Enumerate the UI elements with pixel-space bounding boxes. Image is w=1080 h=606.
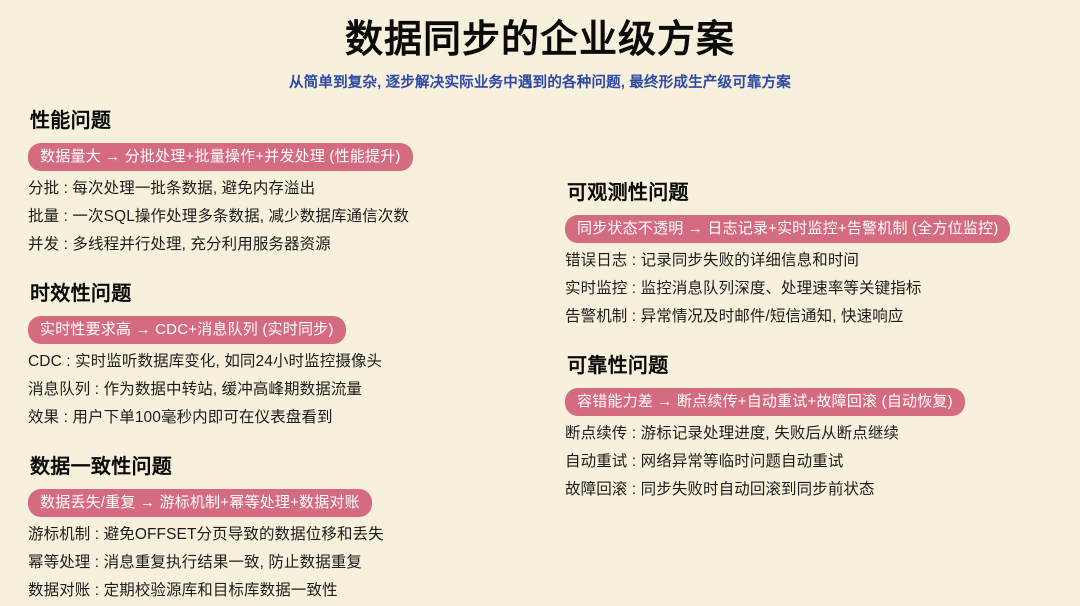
- section-observability: 可观测性问题 同步状态不透明 → 日志记录+实时监控+告警机制 (全方位监控) …: [565, 180, 1065, 331]
- section-reliability: 可靠性问题 容错能力差 → 断点续传+自动重试+故障回滚 (自动恢复) 断点续传…: [565, 353, 1065, 504]
- list-item: 自动重试 : 网络异常等临时问题自动重试: [565, 448, 1065, 476]
- list-item: 游标机制 : 避免OFFSET分页导致的数据位移和丢失: [28, 521, 528, 549]
- section-consistency: 数据一致性问题 数据丢失/重复 → 游标机制+幂等处理+数据对账 游标机制 : …: [28, 454, 528, 605]
- list-item: 并发 : 多线程并行处理, 充分利用服务器资源: [28, 231, 528, 259]
- section-timeliness: 时效性问题 实时性要求高 → CDC+消息队列 (实时同步) CDC : 实时监…: [28, 281, 528, 432]
- bullet-list-consistency: 游标机制 : 避免OFFSET分页导致的数据位移和丢失 幂等处理 : 消息重复执…: [28, 521, 528, 605]
- section-title-consistency: 数据一致性问题: [30, 454, 528, 480]
- list-item: 效果 : 用户下单100毫秒内即可在仪表盘看到: [28, 404, 528, 432]
- list-item: 数据对账 : 定期校验源库和目标库数据一致性: [28, 577, 528, 605]
- section-title-performance: 性能问题: [30, 108, 528, 134]
- list-item: 断点续传 : 游标记录处理进度, 失败后从断点继续: [565, 420, 1065, 448]
- solution-pill-consistency: 数据丢失/重复 → 游标机制+幂等处理+数据对账: [28, 489, 372, 517]
- right-column: 可观测性问题 同步状态不透明 → 日志记录+实时监控+告警机制 (全方位监控) …: [565, 180, 1065, 504]
- list-item: 实时监控 : 监控消息队列深度、处理速率等关键指标: [565, 275, 1065, 303]
- section-title-observability: 可观测性问题: [567, 180, 1065, 206]
- slide-header: 数据同步的企业级方案 从简单到复杂, 逐步解决实际业务中遇到的各种问题, 最终形…: [0, 0, 1080, 93]
- section-title-reliability: 可靠性问题: [567, 353, 1065, 379]
- bullet-list-performance: 分批 : 每次处理一批条数据, 避免内存溢出 批量 : 一次SQL操作处理多条数…: [28, 175, 528, 259]
- section-performance: 性能问题 数据量大 → 分批处理+批量操作+并发处理 (性能提升) 分批 : 每…: [28, 108, 528, 259]
- list-item: CDC : 实时监听数据库变化, 如同24小时监控摄像头: [28, 348, 528, 376]
- list-item: 告警机制 : 异常情况及时邮件/短信通知, 快速响应: [565, 303, 1065, 331]
- list-item: 幂等处理 : 消息重复执行结果一致, 防止数据重复: [28, 549, 528, 577]
- list-item: 错误日志 : 记录同步失败的详细信息和时间: [565, 247, 1065, 275]
- solution-pill-performance: 数据量大 → 分批处理+批量操作+并发处理 (性能提升): [28, 143, 413, 171]
- solution-pill-reliability: 容错能力差 → 断点续传+自动重试+故障回滚 (自动恢复): [565, 388, 965, 416]
- left-column: 性能问题 数据量大 → 分批处理+批量操作+并发处理 (性能提升) 分批 : 每…: [28, 108, 528, 605]
- list-item: 消息队列 : 作为数据中转站, 缓冲高峰期数据流量: [28, 376, 528, 404]
- slide-canvas: 数据同步的企业级方案 从简单到复杂, 逐步解决实际业务中遇到的各种问题, 最终形…: [0, 0, 1080, 606]
- page-subtitle: 从简单到复杂, 逐步解决实际业务中遇到的各种问题, 最终形成生产级可靠方案: [0, 63, 1080, 93]
- bullet-list-timeliness: CDC : 实时监听数据库变化, 如同24小时监控摄像头 消息队列 : 作为数据…: [28, 348, 528, 432]
- bullet-list-reliability: 断点续传 : 游标记录处理进度, 失败后从断点继续 自动重试 : 网络异常等临时…: [565, 420, 1065, 504]
- list-item: 故障回滚 : 同步失败时自动回滚到同步前状态: [565, 476, 1065, 504]
- page-title: 数据同步的企业级方案: [0, 0, 1080, 63]
- bullet-list-observability: 错误日志 : 记录同步失败的详细信息和时间 实时监控 : 监控消息队列深度、处理…: [565, 247, 1065, 331]
- list-item: 批量 : 一次SQL操作处理多条数据, 减少数据库通信次数: [28, 203, 528, 231]
- list-item: 分批 : 每次处理一批条数据, 避免内存溢出: [28, 175, 528, 203]
- solution-pill-timeliness: 实时性要求高 → CDC+消息队列 (实时同步): [28, 316, 346, 344]
- solution-pill-observability: 同步状态不透明 → 日志记录+实时监控+告警机制 (全方位监控): [565, 215, 1010, 243]
- section-title-timeliness: 时效性问题: [30, 281, 528, 307]
